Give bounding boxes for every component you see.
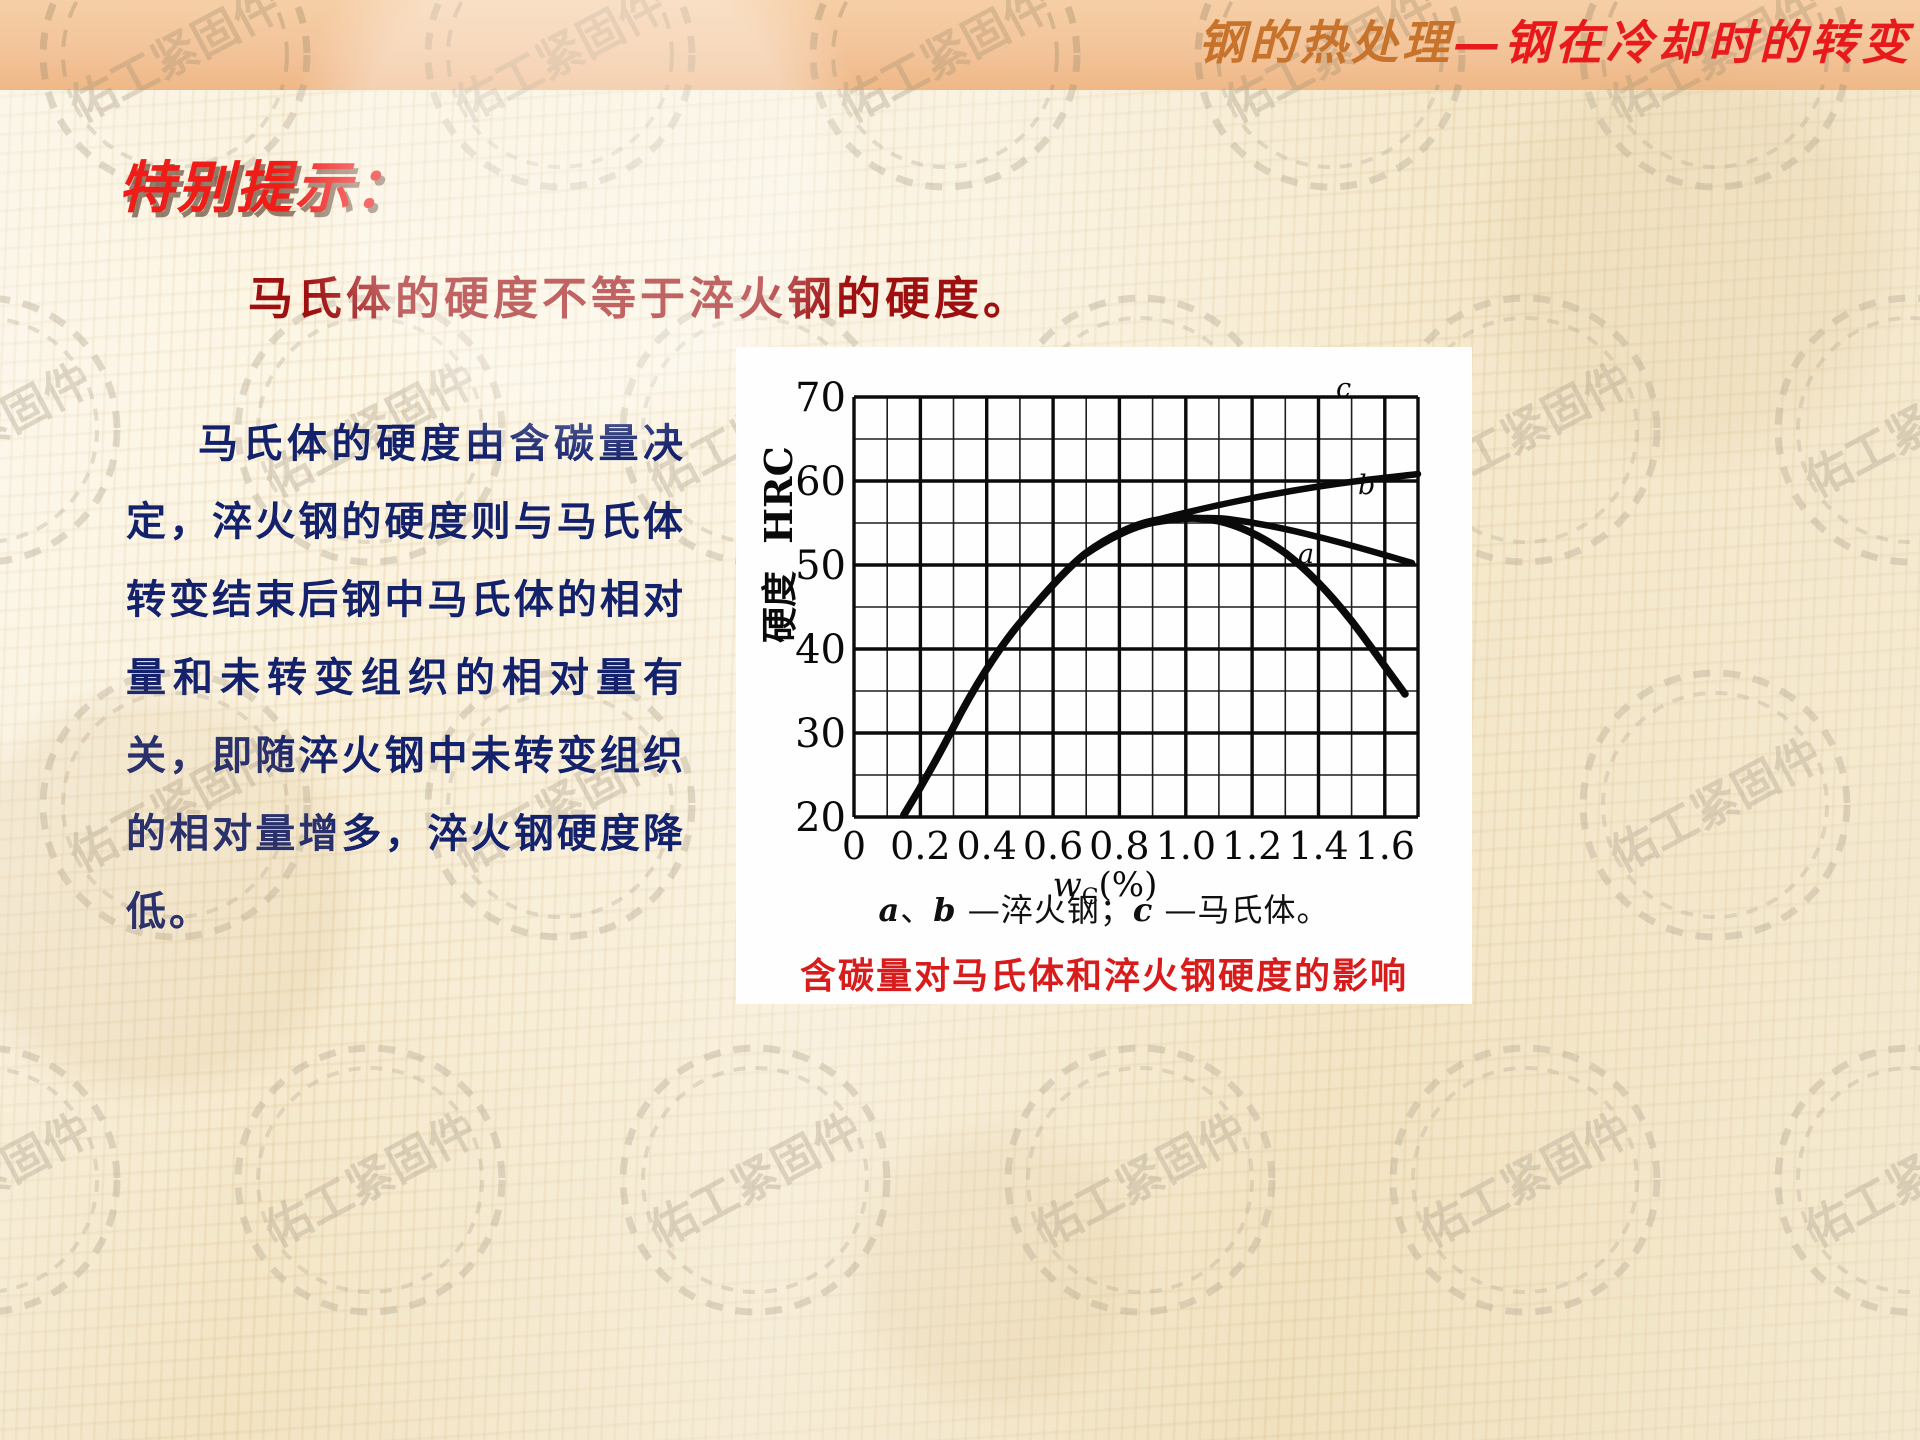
figure-card: c b a 70 60 50 40 30 20 HRC 硬度 0 bbox=[736, 347, 1472, 1004]
svg-text:60: 60 bbox=[795, 459, 846, 505]
legend-description-quenched: —淬火钢； bbox=[957, 891, 1133, 929]
svg-text:0.2: 0.2 bbox=[890, 824, 950, 867]
hardness-vs-carbon-chart: c b a 70 60 50 40 30 20 HRC 硬度 0 bbox=[758, 367, 1452, 867]
slide-header-band: 佑工紧固件 佑工紧固件 佑工紧固件 佑工紧固件 佑工紧固件 钢的热处理—钢在冷却… bbox=[0, 0, 1920, 90]
svg-text:1.4: 1.4 bbox=[1288, 824, 1348, 867]
svg-text:0: 0 bbox=[842, 824, 866, 867]
curve-label-a: a bbox=[1298, 539, 1314, 570]
header-title-part1: 钢的热处理 bbox=[1198, 16, 1453, 71]
figure-caption: 含碳量对马氏体和淬火钢硬度的影响 bbox=[736, 947, 1472, 999]
y-tick-labels: 70 60 50 40 30 20 bbox=[795, 375, 846, 841]
key-statement: 马氏体的硬度不等于淬火钢的硬度。 bbox=[248, 262, 1032, 327]
header-title: 钢的热处理—钢在冷却时的转变 bbox=[1198, 14, 1912, 74]
curve-a-quenched-steel bbox=[904, 518, 1405, 815]
legend-symbol-c: c bbox=[1133, 891, 1153, 929]
svg-text:0.4: 0.4 bbox=[956, 824, 1016, 867]
curve-label-c: c bbox=[1336, 373, 1351, 404]
svg-text:50: 50 bbox=[795, 543, 846, 589]
svg-text:1.0: 1.0 bbox=[1156, 824, 1216, 867]
curve-label-b: b bbox=[1358, 470, 1375, 501]
svg-text:0.6: 0.6 bbox=[1023, 824, 1083, 867]
svg-text:20: 20 bbox=[795, 795, 846, 841]
y-axis-label-hrc: HRC bbox=[758, 446, 801, 544]
chart-svg: c b a 70 60 50 40 30 20 HRC 硬度 0 bbox=[758, 367, 1452, 867]
legend-symbol-a: a bbox=[879, 891, 901, 929]
x-tick-labels: 0 0.2 0.4 0.6 0.8 1.0 1.2 1.4 1.6 bbox=[842, 824, 1415, 867]
header-title-part2: —钢在冷却时的转变 bbox=[1453, 16, 1912, 71]
legend-symbol-b: b bbox=[933, 891, 956, 929]
svg-text:70: 70 bbox=[795, 375, 846, 421]
svg-text:30: 30 bbox=[795, 711, 846, 757]
svg-text:佑工紧固件: 佑工紧固件 bbox=[60, 0, 289, 90]
svg-text:40: 40 bbox=[795, 627, 846, 673]
legend-description-martensite: —马氏体。 bbox=[1153, 891, 1329, 929]
svg-text:1.6: 1.6 bbox=[1355, 824, 1415, 867]
body-paragraph: 马氏体的硬度由含碳量决定，淬火钢的硬度则与马氏体转变结束后钢中马氏体的相对量和未… bbox=[126, 405, 686, 951]
svg-text:0.8: 0.8 bbox=[1089, 824, 1149, 867]
y-axis-label-hardness: 硬度 bbox=[759, 571, 801, 643]
svg-text:佑工紧固件: 佑工紧固件 bbox=[445, 0, 674, 90]
slide-canvas: 佑工紧固件 bbox=[0, 0, 1920, 1440]
svg-text:1.2: 1.2 bbox=[1222, 824, 1282, 867]
special-tip-title: 特别提示： bbox=[118, 143, 413, 224]
legend-separator: 、 bbox=[900, 891, 933, 929]
figure-legend: a、b —淬火钢；c —马氏体。 bbox=[736, 885, 1472, 931]
svg-text:佑工紧固件: 佑工紧固件 bbox=[830, 0, 1059, 90]
